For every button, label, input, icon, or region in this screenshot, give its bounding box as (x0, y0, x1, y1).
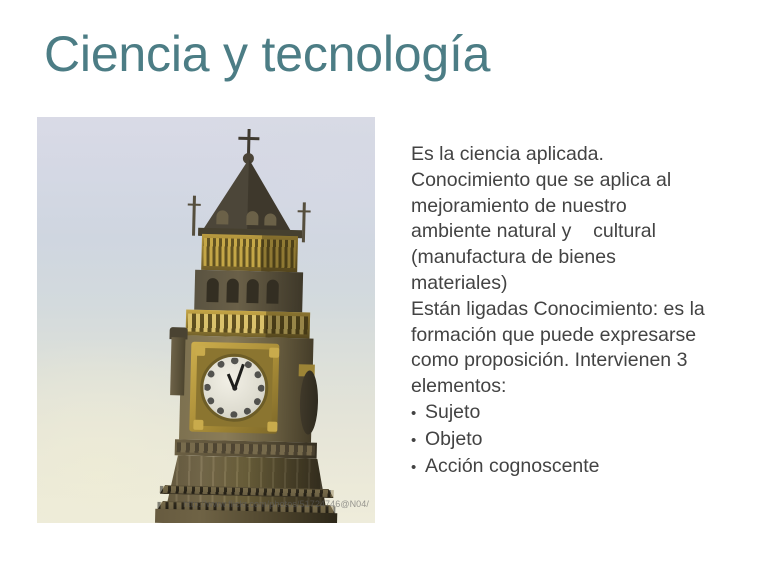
left-turret (170, 337, 185, 395)
body-line: mejoramiento de nuestro (411, 194, 741, 220)
clock-tower-illustration (145, 123, 355, 523)
bullet-marker-icon: • (411, 455, 425, 481)
bullet-item-label: Acción cognoscente (425, 454, 741, 480)
corner-pinnacle (192, 196, 196, 236)
stage-arch-opening (206, 278, 219, 302)
body-line: como proposición. Intervienen 3 (411, 348, 741, 374)
pinnacle-cross-icon (298, 210, 311, 212)
clock-frame-corner (195, 346, 205, 356)
bullet-item-label: Objeto (425, 427, 741, 453)
slide-title: Ciencia y tecnología (44, 24, 724, 84)
body-line: ambiente natural y cultural (411, 219, 741, 245)
belfry-shadow (261, 235, 298, 272)
corner-pinnacle (302, 202, 306, 242)
body-line: materiales) (411, 271, 741, 297)
body-line: Conocimiento que se aplica al (411, 168, 741, 194)
body-line: (manufactura de bienes (411, 245, 741, 271)
bullet-marker-icon: • (411, 401, 425, 427)
spire-dormer (264, 213, 276, 225)
clock-frame-corner (267, 422, 277, 432)
clock-frame-corner (269, 348, 279, 358)
spire-finial-cross-icon (238, 137, 259, 141)
presentation-slide: Ciencia y tecnología (0, 0, 768, 561)
spire-roof-shadow (247, 159, 297, 238)
spire-dormer (216, 210, 228, 224)
side-clock-face (299, 370, 319, 434)
stage-arch-opening (246, 279, 259, 303)
big-ben-clock-tower-photo: http://www.flickr.com/photos/51724746@N0… (37, 117, 375, 523)
spire-dormer (246, 211, 258, 225)
slide-body-text: Es la ciencia aplicada. Conocimiento que… (411, 142, 741, 480)
body-line: elementos: (411, 374, 741, 400)
body-line: formación que puede expresarse (411, 323, 741, 349)
stage-arch-opening (266, 279, 279, 303)
photo-attribution-watermark: http://www.flickr.com/photos/51724746@N0… (57, 499, 369, 510)
stage-arch-opening (226, 278, 239, 302)
body-line: Están ligadas Conocimiento: es la (411, 297, 741, 323)
bullet-list-item: • Sujeto (411, 400, 741, 427)
clock-frame-corner (193, 420, 203, 430)
bullet-item-label: Sujeto (425, 400, 741, 426)
bullet-list-item: • Objeto (411, 427, 741, 454)
bullet-marker-icon: • (411, 428, 425, 454)
pinnacle-cross-icon (188, 204, 201, 206)
body-line: Es la ciencia aplicada. (411, 142, 741, 168)
bullet-list-item: • Acción cognoscente (411, 454, 741, 481)
gold-band-shadow (266, 311, 311, 338)
